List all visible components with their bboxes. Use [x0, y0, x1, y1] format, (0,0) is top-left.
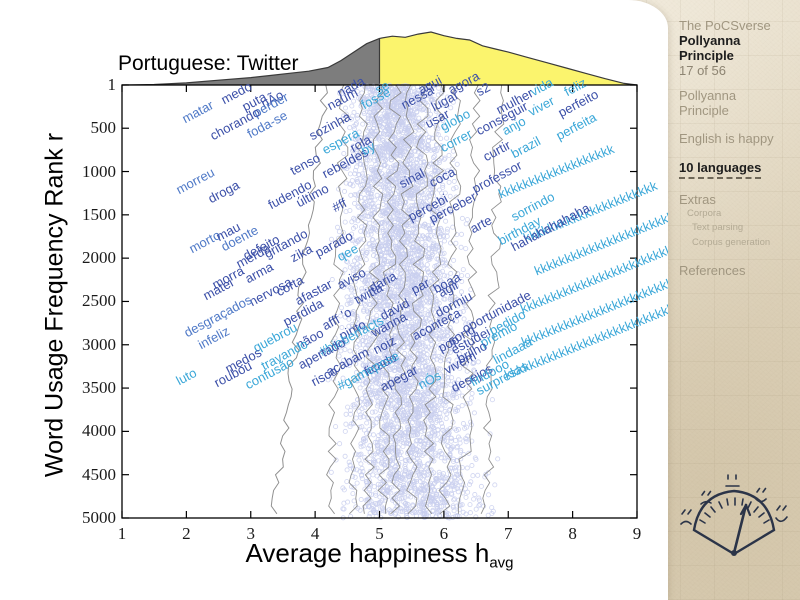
word-label: brazil	[508, 133, 542, 161]
word-label: luto	[173, 365, 199, 388]
word-label: matar	[180, 98, 216, 127]
sidebar-deck-title-line1: Pollyanna	[679, 33, 797, 48]
word-label: coca	[426, 164, 457, 190]
sidebar-nav: The PoCSverse Pollyanna Principle 17 of …	[679, 18, 797, 278]
word-label: tenso	[287, 149, 322, 177]
y-tick-label: 1000	[64, 162, 116, 182]
word-label: 'o	[339, 305, 355, 323]
slide-canvas: Word Usage Frequency Rank r Portuguese: …	[0, 0, 668, 600]
happiness-rank-scatter-plot: Word Usage Frequency Rank r Portuguese: …	[0, 0, 668, 600]
sidebar-item-pollyanna[interactable]: Pollyanna	[679, 88, 797, 103]
x-axis-label: Average happiness havg	[122, 538, 637, 571]
word-label: nÓs	[416, 367, 444, 391]
word-label: risco	[308, 363, 339, 389]
sidebar-item-english-is-happy[interactable]: English is happy	[679, 131, 797, 146]
sidebar-item-corpora[interactable]: Corpora	[687, 207, 797, 221]
sidebar-item-10-languages[interactable]: 10 languages	[679, 160, 761, 179]
y-tick-label: 3500	[64, 378, 116, 398]
sidebar-item-corpus-generation[interactable]: Corpus generation	[692, 236, 797, 250]
sidebar-item-extras[interactable]: Extras	[679, 192, 797, 207]
word-label: #ff	[330, 195, 350, 215]
sidebar-brand: The PoCSverse	[679, 18, 797, 33]
word-label: curtir	[480, 137, 513, 164]
y-tick-label: 1500	[64, 205, 116, 225]
y-tick-label: 500	[64, 118, 116, 138]
word-label: par	[408, 275, 432, 297]
sidebar-page-counter: 17 of 56	[679, 63, 797, 78]
word-label: arte	[467, 212, 494, 236]
y-tick-label: 1	[64, 75, 116, 95]
y-tick-label: 4000	[64, 421, 116, 441]
y-tick-label: 2500	[64, 291, 116, 311]
y-tick-label: 4500	[64, 465, 116, 485]
word-label: matei	[201, 275, 236, 303]
word-label: droga	[205, 177, 241, 206]
y-tick-label: 2000	[64, 248, 116, 268]
happiness-meter-gauge-icon	[678, 474, 790, 560]
sidebar-deck-title-line2: Principle	[679, 48, 797, 63]
sidebar-item-text-parsing[interactable]: Text parsing	[692, 221, 797, 235]
sidebar-item-references[interactable]: References	[679, 263, 797, 278]
x-axis-label-text: Average happiness h	[245, 538, 489, 568]
y-tick-label: 3000	[64, 335, 116, 355]
x-axis-label-subscript: avg	[489, 554, 513, 571]
word-label: naum	[324, 85, 360, 114]
word-label: sinal	[397, 166, 428, 192]
sidebar-item-principle[interactable]: Principle	[679, 103, 797, 118]
